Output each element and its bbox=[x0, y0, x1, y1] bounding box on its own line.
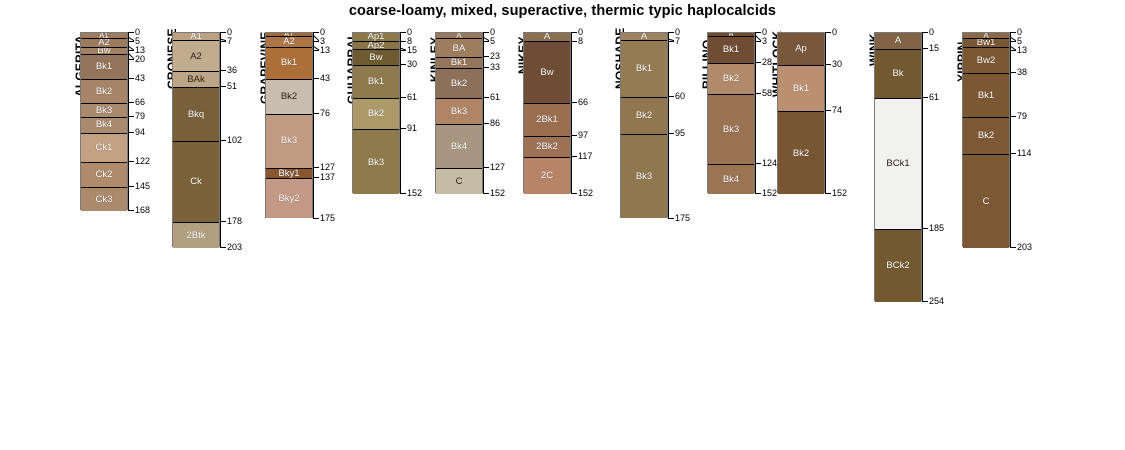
profile-column: ABw1Bw2Bk1Bk2C bbox=[962, 32, 1010, 247]
depth-tick-label: 0 bbox=[832, 28, 837, 37]
horizon-label: A2 bbox=[283, 37, 295, 47]
horizon-label: BCk1 bbox=[886, 159, 909, 169]
depth-tick bbox=[825, 110, 831, 111]
depth-tick-label: 95 bbox=[675, 129, 685, 138]
depth-tick bbox=[571, 41, 577, 42]
soil-horizon: Bk1 bbox=[266, 47, 312, 79]
depth-tick-label: 20 bbox=[135, 55, 145, 64]
depth-tick-label: 127 bbox=[320, 163, 335, 172]
depth-tick bbox=[128, 116, 134, 117]
depth-tick bbox=[755, 93, 761, 94]
horizon-label: Bk4 bbox=[723, 175, 739, 185]
depth-tick-label: 152 bbox=[407, 189, 422, 198]
horizon-label: Bk1 bbox=[451, 58, 467, 68]
depth-tick bbox=[483, 67, 489, 68]
soil-horizon: C bbox=[963, 154, 1009, 248]
depth-tick-label: 175 bbox=[675, 214, 690, 223]
depth-tick bbox=[571, 135, 577, 136]
soil-horizon: Ck1 bbox=[81, 133, 127, 163]
depth-tick bbox=[400, 97, 406, 98]
depth-tick-label: 97 bbox=[578, 131, 588, 140]
depth-tick bbox=[1010, 72, 1016, 73]
soil-horizon: A bbox=[875, 33, 921, 49]
horizon-label: BA bbox=[453, 44, 466, 54]
depth-tick bbox=[571, 102, 577, 103]
horizon-label: Ck3 bbox=[96, 195, 113, 205]
horizon-label: Bw bbox=[369, 53, 382, 63]
horizon-label: A bbox=[641, 33, 647, 40]
horizon-label: Bw2 bbox=[977, 56, 995, 66]
horizon-label: C bbox=[456, 177, 463, 187]
horizon-label: Bk2 bbox=[723, 74, 739, 84]
soil-horizon: Bky2 bbox=[266, 178, 312, 218]
depth-tick-label: 152 bbox=[578, 189, 593, 198]
horizon-label: Bk2 bbox=[281, 92, 297, 102]
soil-horizon: Bk1 bbox=[778, 65, 824, 112]
profile-column: Ap1Ap2BwBk1Bk2Bk3 bbox=[352, 32, 400, 193]
profile-column: ABk1Bk2Bk3 bbox=[620, 32, 668, 218]
depth-tick-label: 254 bbox=[929, 297, 944, 306]
soil-horizon: BA bbox=[436, 38, 482, 57]
horizon-label: A2 bbox=[98, 38, 110, 46]
depth-tick-label: 3 bbox=[762, 37, 767, 46]
soil-horizon: A bbox=[524, 33, 570, 41]
depth-tick bbox=[1010, 50, 1016, 51]
depth-tick-label: 114 bbox=[1017, 149, 1031, 158]
soil-horizon: Bw bbox=[353, 49, 399, 65]
soil-horizon: A2 bbox=[81, 38, 127, 46]
depth-tick-label: 79 bbox=[135, 112, 145, 121]
horizon-label: A2 bbox=[190, 52, 202, 62]
profile-column: A1A2Bk1Bk2Bk3Bky1Bky2 bbox=[265, 32, 313, 218]
soil-horizon: 2Bk1 bbox=[524, 103, 570, 136]
depth-axis bbox=[571, 32, 572, 193]
horizon-label: Bk4 bbox=[96, 120, 112, 130]
depth-tick-label: 33 bbox=[490, 63, 500, 72]
depth-tick bbox=[400, 64, 406, 65]
depth-tick bbox=[313, 32, 319, 33]
depth-tick-label: 74 bbox=[832, 106, 842, 115]
depth-tick-label: 168 bbox=[135, 206, 150, 215]
horizon-label: Bw bbox=[540, 68, 553, 78]
depth-tick bbox=[668, 133, 674, 134]
depth-tick-label: 203 bbox=[227, 243, 242, 252]
depth-tick bbox=[313, 177, 319, 178]
horizon-label: Bk2 bbox=[978, 131, 994, 141]
depth-tick bbox=[400, 193, 406, 194]
depth-tick-label: 127 bbox=[490, 163, 505, 172]
horizon-label: Bw bbox=[97, 47, 110, 54]
depth-tick-label: 66 bbox=[135, 98, 145, 107]
horizon-label: Ap bbox=[795, 44, 807, 54]
profile-column: ApBk1Bk2 bbox=[777, 32, 825, 193]
soil-horizon: Bk1 bbox=[353, 65, 399, 98]
depth-tick-label: 51 bbox=[227, 82, 237, 91]
soil-horizon: 2C bbox=[524, 157, 570, 194]
soil-horizon: Bk3 bbox=[81, 103, 127, 117]
soil-horizon: Bk2 bbox=[708, 63, 754, 95]
horizon-label: Bk2 bbox=[636, 111, 652, 121]
depth-tick-label: 117 bbox=[578, 152, 592, 161]
depth-tick bbox=[220, 32, 226, 33]
horizon-label: Bkq bbox=[188, 110, 204, 120]
horizon-label: Ck bbox=[190, 177, 202, 187]
depth-tick bbox=[483, 193, 489, 194]
depth-tick bbox=[755, 62, 761, 63]
depth-tick-label: 152 bbox=[490, 189, 505, 198]
soil-horizon: Ap bbox=[778, 33, 824, 65]
depth-tick-label: 124 bbox=[762, 159, 777, 168]
horizon-label: BCk2 bbox=[886, 261, 909, 271]
depth-tick bbox=[128, 132, 134, 133]
soil-horizon: Bk1 bbox=[81, 54, 127, 78]
soil-horizon: Bk4 bbox=[436, 124, 482, 167]
soil-horizon: Bw bbox=[81, 47, 127, 54]
soil-horizon: Bk1 bbox=[708, 36, 754, 63]
soil-horizon: A2 bbox=[266, 36, 312, 47]
depth-tick-label: 43 bbox=[320, 74, 330, 83]
horizon-label: Bk2 bbox=[451, 79, 467, 89]
depth-tick bbox=[1010, 32, 1016, 33]
depth-tick-label: 5 bbox=[490, 37, 495, 46]
soil-horizon: Bk2 bbox=[81, 79, 127, 103]
soil-horizon: Bk2 bbox=[353, 98, 399, 130]
depth-axis bbox=[400, 32, 401, 193]
depth-axis bbox=[1010, 32, 1011, 247]
depth-tick-label: 61 bbox=[407, 93, 417, 102]
soil-horizon: Bk2 bbox=[436, 68, 482, 98]
depth-tick-label: 178 bbox=[227, 217, 242, 226]
soil-horizon: A1 bbox=[173, 33, 219, 40]
depth-tick bbox=[483, 167, 489, 168]
depth-tick bbox=[922, 97, 928, 98]
horizon-label: Bk1 bbox=[793, 84, 809, 94]
soil-horizon: Bk2 bbox=[621, 97, 667, 134]
depth-tick bbox=[571, 32, 577, 33]
depth-axis bbox=[825, 32, 826, 193]
soil-horizon: Bk3 bbox=[266, 114, 312, 168]
profile-column: A1A2BwBk1Bk2Bk3Bk4Ck1Ck2Ck3 bbox=[80, 32, 128, 210]
horizon-label: A1 bbox=[190, 33, 202, 40]
soil-horizon: Bk4 bbox=[708, 164, 754, 194]
depth-tick bbox=[755, 32, 761, 33]
soil-horizon: Bk1 bbox=[963, 73, 1009, 116]
depth-tick-label: 185 bbox=[929, 224, 944, 233]
depth-tick bbox=[1010, 41, 1016, 42]
horizon-label: Bk bbox=[892, 69, 903, 79]
horizon-label: Bk4 bbox=[451, 142, 467, 152]
horizon-label: Ap2 bbox=[368, 41, 385, 48]
depth-tick-label: 175 bbox=[320, 214, 335, 223]
horizon-label: Bk1 bbox=[96, 62, 112, 72]
depth-tick bbox=[400, 128, 406, 129]
depth-tick-label: 61 bbox=[929, 93, 939, 102]
profile-column: ABw2Bk12Bk22C bbox=[523, 32, 571, 193]
horizon-label: Bk1 bbox=[723, 45, 739, 55]
depth-axis bbox=[313, 32, 314, 218]
soil-horizon: Ck bbox=[173, 141, 219, 222]
depth-tick bbox=[1010, 153, 1016, 154]
soil-horizon: Bw2 bbox=[963, 47, 1009, 74]
depth-tick-label: 137 bbox=[320, 173, 335, 182]
soil-horizon: 2Bk2 bbox=[524, 136, 570, 157]
depth-tick bbox=[220, 86, 226, 87]
depth-tick bbox=[220, 221, 226, 222]
soil-horizon: Bk1 bbox=[621, 40, 667, 96]
depth-tick bbox=[128, 102, 134, 103]
horizon-label: 2Btk bbox=[186, 231, 205, 241]
depth-tick bbox=[400, 50, 406, 51]
horizon-label: Ap1 bbox=[368, 33, 385, 41]
horizon-label: Ck1 bbox=[96, 143, 113, 153]
profile-column: ABk1Bk2Bk3Bk4 bbox=[707, 32, 755, 193]
horizon-label: Bk2 bbox=[793, 149, 809, 159]
depth-axis bbox=[668, 32, 669, 218]
depth-tick-label: 30 bbox=[407, 60, 417, 69]
depth-tick bbox=[668, 41, 674, 42]
depth-tick-label: 203 bbox=[1017, 243, 1032, 252]
depth-tick bbox=[220, 41, 226, 42]
depth-tick bbox=[483, 32, 489, 33]
depth-tick bbox=[313, 113, 319, 114]
depth-tick-label: 152 bbox=[832, 189, 847, 198]
depth-axis bbox=[755, 32, 756, 193]
soil-horizon: Bk3 bbox=[436, 98, 482, 125]
soil-horizon: Bkq bbox=[173, 87, 219, 141]
soil-horizon: Bk3 bbox=[708, 94, 754, 164]
profile-column: ABkBCk1BCk2 bbox=[874, 32, 922, 301]
depth-tick-label: 86 bbox=[490, 119, 500, 128]
profile-column: A1A2BAkBkqCk2Btk bbox=[172, 32, 220, 247]
soil-horizon: Ap1 bbox=[353, 33, 399, 41]
depth-tick bbox=[220, 140, 226, 141]
soil-horizon: Bk bbox=[875, 49, 921, 98]
soil-horizon: Ck3 bbox=[81, 187, 127, 211]
soil-horizon: BCk2 bbox=[875, 229, 921, 302]
depth-tick bbox=[483, 123, 489, 124]
depth-tick bbox=[668, 32, 674, 33]
depth-tick bbox=[220, 70, 226, 71]
soil-horizon: Bw1 bbox=[963, 38, 1009, 46]
depth-tick bbox=[1010, 247, 1016, 248]
depth-tick bbox=[755, 41, 761, 42]
horizon-label: BAk bbox=[187, 75, 204, 85]
depth-tick bbox=[313, 41, 319, 42]
depth-tick bbox=[483, 41, 489, 42]
depth-tick-label: 61 bbox=[490, 93, 500, 102]
horizon-label: Bk1 bbox=[636, 64, 652, 74]
depth-tick bbox=[571, 193, 577, 194]
depth-tick-label: 0 bbox=[929, 28, 934, 37]
depth-tick bbox=[313, 50, 319, 51]
horizon-label: Bk1 bbox=[281, 58, 297, 68]
horizon-label: A bbox=[895, 36, 901, 46]
depth-tick-label: 43 bbox=[135, 74, 145, 83]
depth-tick-label: 94 bbox=[135, 128, 145, 137]
horizon-label: Bk1 bbox=[368, 77, 384, 87]
depth-tick-label: 23 bbox=[490, 52, 500, 61]
depth-tick-label: 102 bbox=[227, 136, 242, 145]
soil-horizon: Ap2 bbox=[353, 41, 399, 48]
depth-tick-label: 91 bbox=[407, 124, 417, 133]
soil-horizon: Bk1 bbox=[436, 57, 482, 68]
depth-tick-label: 145 bbox=[135, 182, 150, 191]
depth-tick-label: 13 bbox=[1017, 46, 1027, 55]
horizon-label: Bk2 bbox=[368, 109, 384, 119]
depth-tick-label: 7 bbox=[227, 37, 232, 46]
depth-tick bbox=[128, 78, 134, 79]
depth-tick bbox=[400, 41, 406, 42]
soil-horizon: BAk bbox=[173, 71, 219, 87]
depth-tick bbox=[668, 218, 674, 219]
horizon-label: Bk3 bbox=[96, 106, 112, 116]
depth-tick bbox=[313, 167, 319, 168]
horizon-label: Bk3 bbox=[636, 172, 652, 182]
page-title: coarse-loamy, mixed, superactive, thermi… bbox=[0, 3, 1125, 19]
depth-tick bbox=[825, 193, 831, 194]
horizon-label: 2Bk2 bbox=[536, 142, 558, 152]
horizon-label: 2Bk1 bbox=[536, 115, 558, 125]
soil-horizon: BCk1 bbox=[875, 98, 921, 229]
depth-tick bbox=[400, 32, 406, 33]
depth-tick bbox=[755, 163, 761, 164]
soil-horizon: Bk2 bbox=[963, 117, 1009, 154]
horizon-label: C bbox=[983, 197, 990, 207]
depth-tick bbox=[128, 186, 134, 187]
depth-tick bbox=[825, 32, 831, 33]
depth-tick bbox=[1010, 116, 1016, 117]
depth-tick bbox=[128, 50, 134, 51]
depth-tick-label: 152 bbox=[762, 189, 777, 198]
depth-tick-label: 15 bbox=[929, 44, 939, 53]
depth-tick bbox=[668, 96, 674, 97]
depth-tick-label: 7 bbox=[675, 37, 680, 46]
depth-tick bbox=[313, 78, 319, 79]
depth-tick-label: 15 bbox=[407, 46, 417, 55]
horizon-label: Bk3 bbox=[281, 136, 297, 146]
horizon-label: Ck2 bbox=[96, 170, 113, 180]
soil-horizon: Bk4 bbox=[81, 117, 127, 133]
depth-tick-label: 79 bbox=[1017, 112, 1027, 121]
depth-tick bbox=[571, 156, 577, 157]
soil-horizon: Bky1 bbox=[266, 168, 312, 179]
depth-axis bbox=[922, 32, 923, 301]
horizon-label: Bky1 bbox=[278, 169, 299, 179]
depth-tick-label: 13 bbox=[320, 46, 330, 55]
soil-horizon: 2Btk bbox=[173, 222, 219, 249]
depth-tick bbox=[483, 56, 489, 57]
depth-tick bbox=[128, 41, 134, 42]
depth-tick bbox=[922, 301, 928, 302]
soil-horizon: Bk2 bbox=[266, 79, 312, 114]
soil-horizon: Bk2 bbox=[778, 111, 824, 194]
soil-horizon: A2 bbox=[173, 40, 219, 71]
depth-tick bbox=[825, 64, 831, 65]
depth-tick bbox=[128, 161, 134, 162]
horizon-label: Bky2 bbox=[278, 194, 299, 204]
depth-tick-label: 66 bbox=[578, 98, 588, 107]
depth-tick-label: 60 bbox=[675, 92, 685, 101]
depth-tick bbox=[128, 210, 134, 211]
depth-tick bbox=[922, 48, 928, 49]
depth-tick bbox=[220, 247, 226, 248]
soil-horizon: Ck2 bbox=[81, 162, 127, 186]
soil-horizon: C bbox=[436, 168, 482, 195]
profile-column: ABABk1Bk2Bk3Bk4C bbox=[435, 32, 483, 193]
horizon-label: A bbox=[544, 33, 550, 41]
depth-tick bbox=[313, 218, 319, 219]
depth-tick-label: 36 bbox=[227, 66, 237, 75]
depth-tick bbox=[128, 59, 134, 60]
horizon-label: Bk3 bbox=[723, 125, 739, 135]
horizon-label: Bk3 bbox=[451, 107, 467, 117]
horizon-label: Bk3 bbox=[368, 158, 384, 168]
depth-tick bbox=[128, 32, 134, 33]
depth-tick bbox=[922, 228, 928, 229]
horizon-label: Bk2 bbox=[96, 87, 112, 97]
soil-horizon: Bk3 bbox=[621, 134, 667, 219]
depth-tick-label: 8 bbox=[578, 37, 583, 46]
depth-tick bbox=[922, 32, 928, 33]
soil-horizon: Bw bbox=[524, 41, 570, 102]
horizon-label: Bk1 bbox=[978, 91, 994, 101]
depth-tick bbox=[755, 193, 761, 194]
horizon-label: 2C bbox=[541, 171, 553, 181]
depth-tick-label: 122 bbox=[135, 157, 150, 166]
horizon-label: Bw1 bbox=[977, 38, 995, 46]
depth-tick bbox=[483, 97, 489, 98]
depth-tick-label: 76 bbox=[320, 109, 330, 118]
depth-tick-label: 38 bbox=[1017, 68, 1027, 77]
soil-horizon: Bk3 bbox=[353, 129, 399, 194]
soil-horizon: A bbox=[621, 33, 667, 40]
depth-tick-label: 30 bbox=[832, 60, 842, 69]
